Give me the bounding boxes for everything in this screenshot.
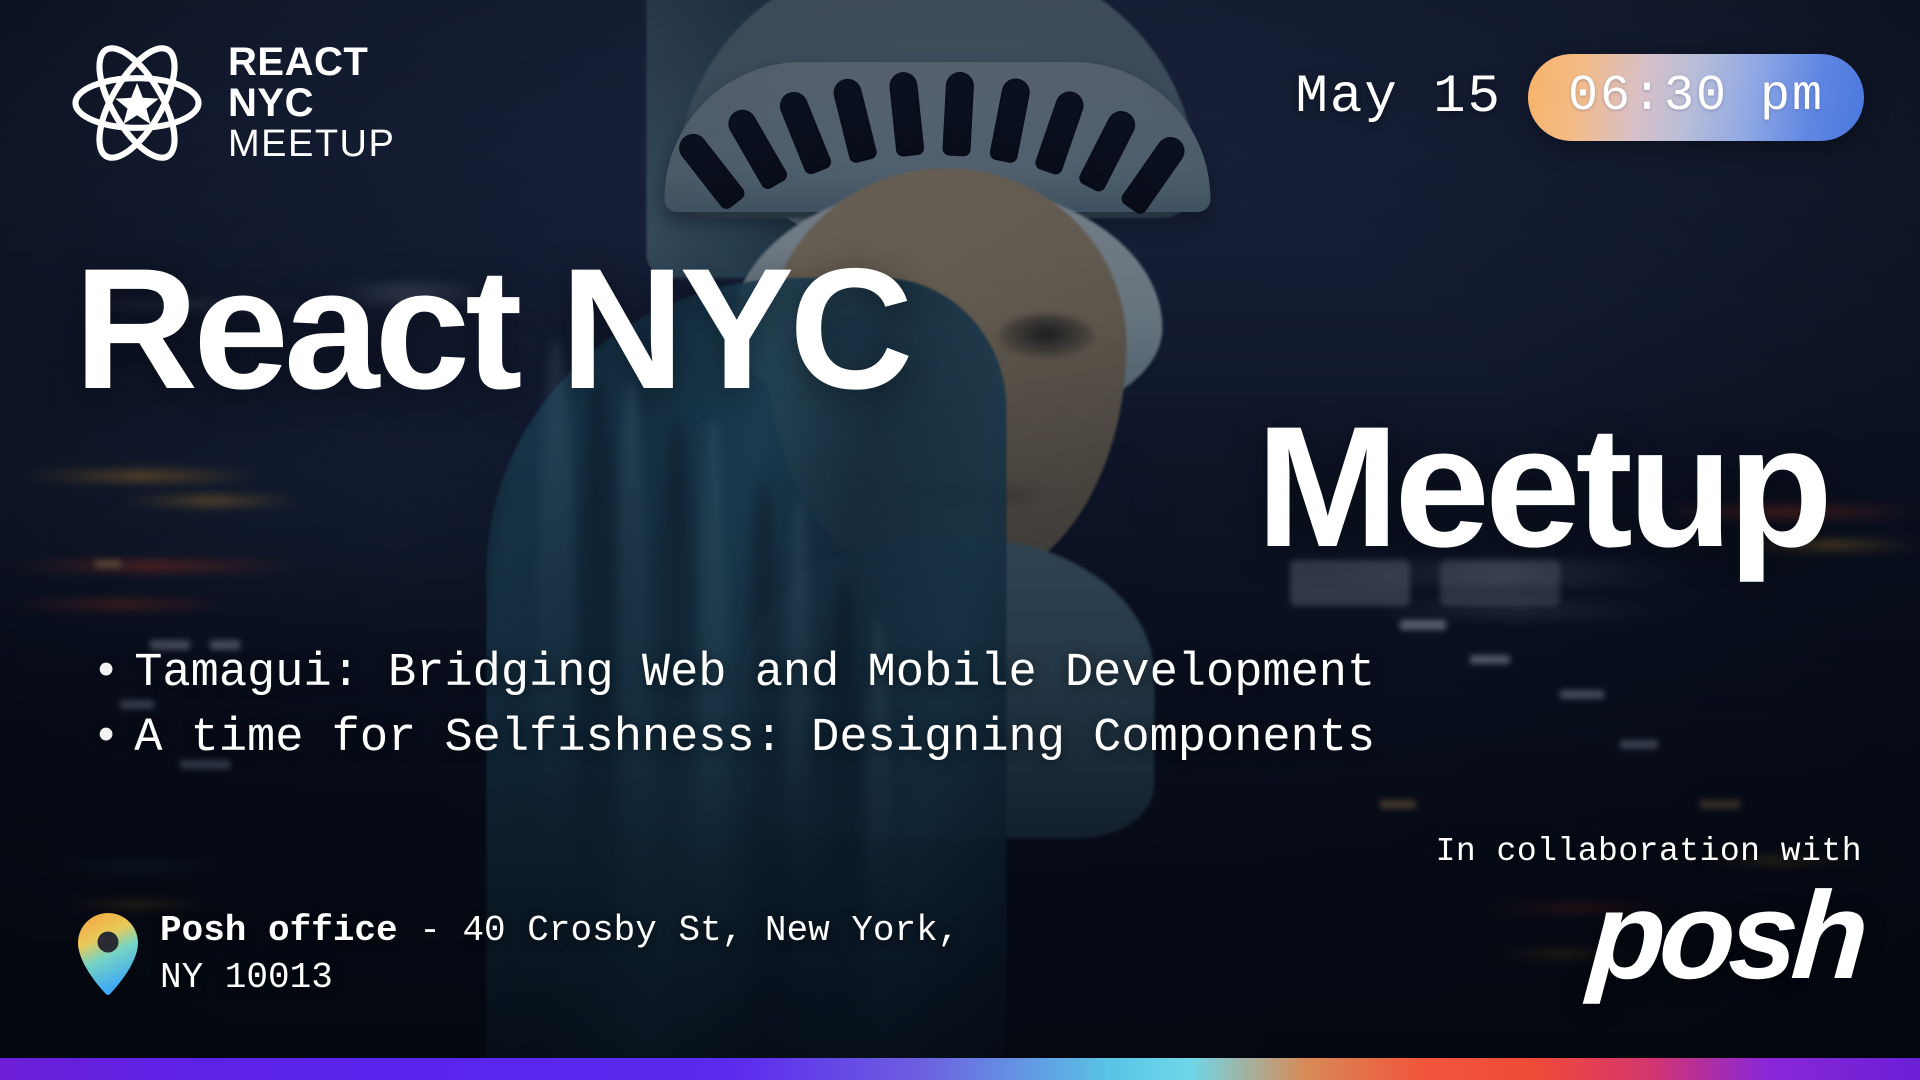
event-time: 06:30 pm bbox=[1568, 68, 1824, 125]
brand-line-react: REACT bbox=[228, 42, 395, 84]
bottom-gradient-bar bbox=[0, 1058, 1920, 1080]
brand-line-meetup: MEETUP bbox=[228, 125, 395, 165]
venue-info[interactable]: Posh office - 40 Crosby St, New York, NY… bbox=[78, 907, 960, 1002]
event-date: May 15 bbox=[1296, 67, 1502, 128]
talk-title: Tamagui: Bridging Web and Mobile Develop… bbox=[134, 642, 1375, 707]
event-datetime: May 15 06:30 pm bbox=[1296, 54, 1864, 141]
bullet-icon: • bbox=[92, 642, 120, 707]
react-atom-star-icon bbox=[66, 32, 208, 174]
event-poster: REACT NYC MEETUP May 15 06:30 pm React N… bbox=[0, 0, 1920, 1080]
brand-logo[interactable]: REACT NYC MEETUP bbox=[66, 32, 395, 174]
brand-line-nyc: NYC bbox=[228, 83, 395, 125]
headline-line-2: Meetup bbox=[74, 408, 1846, 566]
map-pin-icon bbox=[78, 913, 138, 995]
list-item: • Tamagui: Bridging Web and Mobile Devel… bbox=[92, 642, 1375, 707]
brand-wordmark: REACT NYC MEETUP bbox=[228, 42, 395, 165]
list-item: • A time for Selfishness: Designing Comp… bbox=[92, 707, 1375, 772]
headline-line-1: React NYC bbox=[74, 250, 1846, 408]
event-time-badge[interactable]: 06:30 pm bbox=[1528, 54, 1864, 141]
talk-title: A time for Selfishness: Designing Compon… bbox=[134, 707, 1375, 772]
venue-address-text: Posh office - 40 Crosby St, New York, NY… bbox=[160, 907, 960, 1002]
posh-logo: posh bbox=[1431, 874, 1866, 998]
collaboration-label: In collaboration with bbox=[1436, 833, 1862, 870]
collaboration-block: In collaboration with posh bbox=[1436, 833, 1862, 998]
bullet-icon: • bbox=[92, 707, 120, 772]
talks-list: • Tamagui: Bridging Web and Mobile Devel… bbox=[92, 642, 1375, 772]
page-title: React NYC Meetup bbox=[0, 250, 1920, 566]
poster-content: REACT NYC MEETUP May 15 06:30 pm React N… bbox=[0, 0, 1920, 1080]
venue-name: Posh office bbox=[160, 910, 398, 951]
